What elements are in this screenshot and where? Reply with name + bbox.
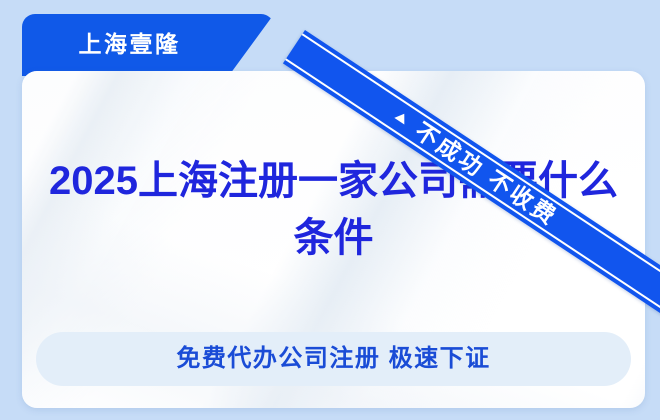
- brand-tab-inner: 上海壹隆: [22, 14, 237, 74]
- cta-banner-label: 免费代办公司注册 极速下证: [176, 347, 490, 371]
- cta-banner[interactable]: 免费代办公司注册 极速下证: [36, 332, 631, 386]
- brand-tab: 上海壹隆: [22, 14, 274, 76]
- brand-name-label: 上海壹隆: [79, 33, 181, 56]
- triangle-up-icon: [394, 110, 409, 124]
- promotional-banner: 上海壹隆 2025上海注册一家公司需要什么条件 免费代办公司注册 极速下证 不成…: [0, 0, 660, 420]
